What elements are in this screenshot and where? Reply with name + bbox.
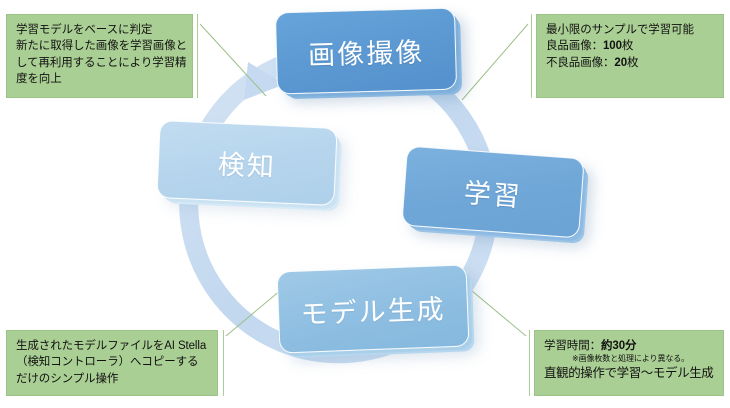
note-line: （検知コントローラ）へコピーする — [16, 354, 209, 370]
note-line: 生成されたモデルファイルをAI Stella — [16, 338, 209, 354]
process-label-model: モデル生成 — [300, 287, 446, 332]
process-box-learn[interactable]: 学習 — [401, 146, 584, 239]
note-box-learn: 学習時間：約30分 ※画像枚数と処理により異なる。 直観的操作で学習～モデル生成 — [534, 330, 724, 396]
note-item-value: 100 — [603, 40, 622, 52]
note-heading: 最小限のサンプルで学習可能 — [546, 22, 715, 38]
process-box-detect[interactable]: 検知 — [156, 120, 337, 206]
process-label-learn: 学習 — [463, 170, 524, 213]
accent-rule-top-left — [197, 14, 198, 98]
note-heading-label: 学習時間： — [544, 340, 601, 352]
process-label-detect: 検知 — [217, 142, 277, 184]
note-heading-value: 約30分 — [601, 340, 636, 352]
diagram-canvas: 検知 画像撮像 学習 モデル生成 学習モデルをベースに判定 新たに取得した画像を… — [0, 0, 730, 408]
note-line: だけのシンプル操作 — [16, 371, 209, 387]
accent-rule-bottom-right — [529, 330, 530, 396]
note-line: して再利用することにより学習精 — [16, 55, 184, 71]
note-summary: 直観的操作で学習～モデル生成 — [544, 365, 715, 383]
note-box-detect: 学習モデルをベースに判定 新たに取得した画像を学習画像と して再利用することによ… — [6, 14, 193, 98]
accent-rule-bottom-left — [223, 330, 224, 396]
note-item-defect: 不良品画像：20枚 — [546, 55, 715, 71]
note-item-label: 不良品画像： — [546, 57, 614, 69]
note-heading: 学習時間：約30分 — [544, 338, 715, 354]
process-box-model[interactable]: モデル生成 — [276, 264, 469, 353]
note-line: 度を向上 — [16, 71, 184, 87]
process-box-capture[interactable]: 画像撮像 — [275, 8, 457, 95]
note-line: 学習モデルをベースに判定 — [16, 22, 184, 38]
note-item-good: 良品画像：100枚 — [546, 38, 715, 54]
note-item-label: 良品画像： — [546, 40, 603, 52]
note-line: 新たに取得した画像を学習画像と — [16, 38, 184, 54]
accent-rule-top-right — [531, 14, 532, 98]
note-item-unit: 枚 — [627, 57, 638, 69]
note-item-value: 20 — [614, 57, 627, 69]
note-box-capture: 最小限のサンプルで学習可能 良品画像：100枚 不良品画像：20枚 — [536, 14, 724, 98]
note-footnote: ※画像枚数と処理により異なる。 — [544, 354, 715, 365]
process-label-capture: 画像撮像 — [307, 30, 424, 72]
note-box-model: 生成されたモデルファイルをAI Stella （検知コントローラ）へコピーする … — [6, 330, 218, 396]
note-item-unit: 枚 — [622, 40, 633, 52]
